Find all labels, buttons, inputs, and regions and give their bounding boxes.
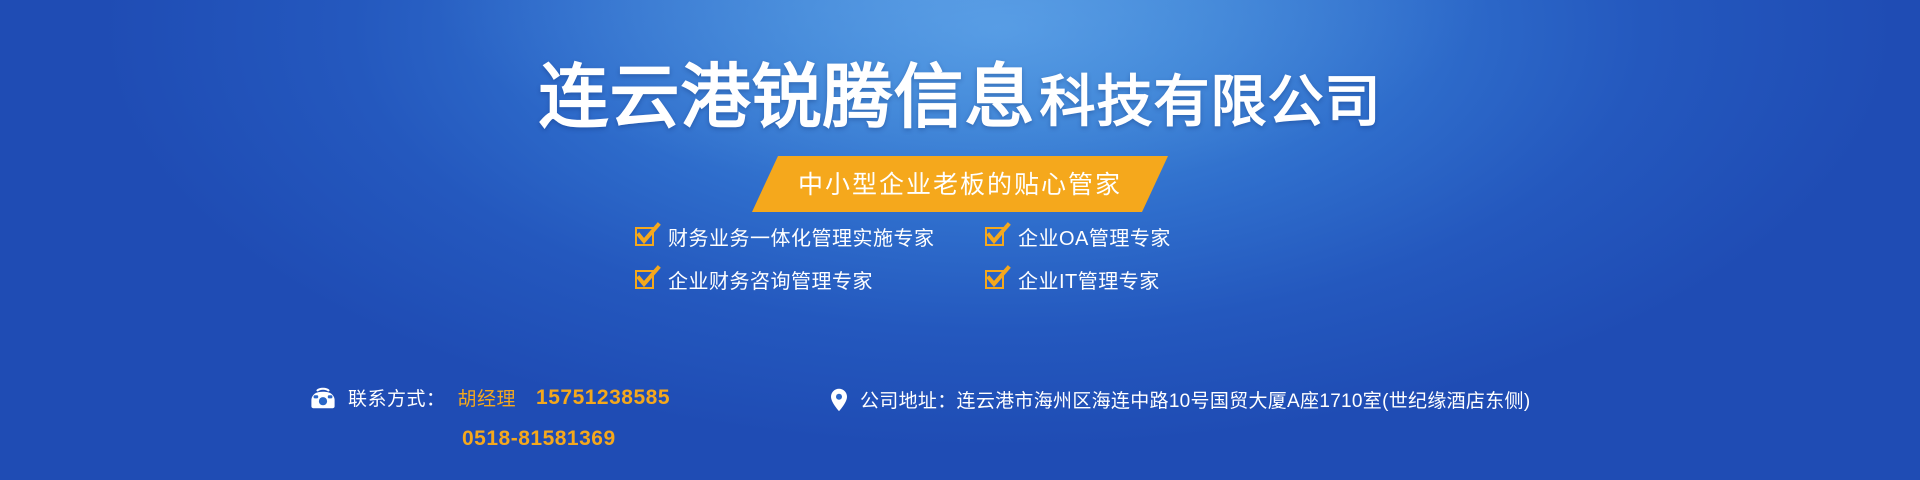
contact-block: 联系方式： 胡经理 15751238585 0518-81581369 (310, 384, 830, 451)
feature-item: 企业财务咨询管理专家 (635, 265, 985, 294)
contact-label: 联系方式： (348, 384, 446, 411)
contact-person: 胡经理 (458, 384, 517, 411)
feature-item: 财务业务一体化管理实施专家 (635, 222, 985, 251)
tagline-ribbon: 中小型企业老板的贴心管家 (752, 156, 1168, 212)
contact-mobile-number[interactable]: 15751238585 (536, 386, 670, 410)
promo-banner: 连云港锐腾信息科技有限公司 中小型企业老板的贴心管家 财务业务一体化管理实施专家 (0, 0, 1920, 480)
check-box-icon (635, 270, 654, 289)
company-title-suffix: 科技有限公司 (1040, 74, 1382, 130)
tagline-container: 中小型企业老板的贴心管家 (0, 156, 1920, 212)
contact-landline-number[interactable]: 0518-81581369 (462, 427, 616, 451)
company-title: 连云港锐腾信息科技有限公司 (0, 62, 1920, 132)
company-title-main: 连云港锐腾信息 (539, 62, 1036, 132)
address-label: 公司地址： (860, 391, 957, 412)
address-value: 连云港市海州区海连中路10号国贸大厦A座1710室(世纪缘酒店东侧) (957, 391, 1531, 412)
feature-label: 财务业务一体化管理实施专家 (668, 222, 935, 251)
address-text: 公司地址：连云港市海州区海连中路10号国贸大厦A座1710室(世纪缘酒店东侧) (860, 386, 1530, 413)
contact-primary-line: 联系方式： 胡经理 15751238585 (310, 384, 670, 411)
check-box-icon (985, 227, 1004, 246)
location-pin-icon (830, 388, 848, 412)
contact-footer: 联系方式： 胡经理 15751238585 0518-81581369 公司地址… (0, 384, 1920, 451)
check-box-icon (635, 227, 654, 246)
check-box-icon (985, 270, 1004, 289)
feature-label: 企业财务咨询管理专家 (668, 265, 873, 294)
feature-label: 企业OA管理专家 (1018, 222, 1171, 251)
feature-list: 财务业务一体化管理实施专家 企业OA管理专家 (0, 222, 1920, 294)
feature-label: 企业IT管理专家 (1018, 265, 1160, 294)
feature-item: 企业OA管理专家 (985, 222, 1285, 251)
telephone-icon (310, 387, 336, 409)
feature-item: 企业IT管理专家 (985, 265, 1285, 294)
address-block: 公司地址：连云港市海州区海连中路10号国贸大厦A座1710室(世纪缘酒店东侧) (830, 384, 1610, 413)
